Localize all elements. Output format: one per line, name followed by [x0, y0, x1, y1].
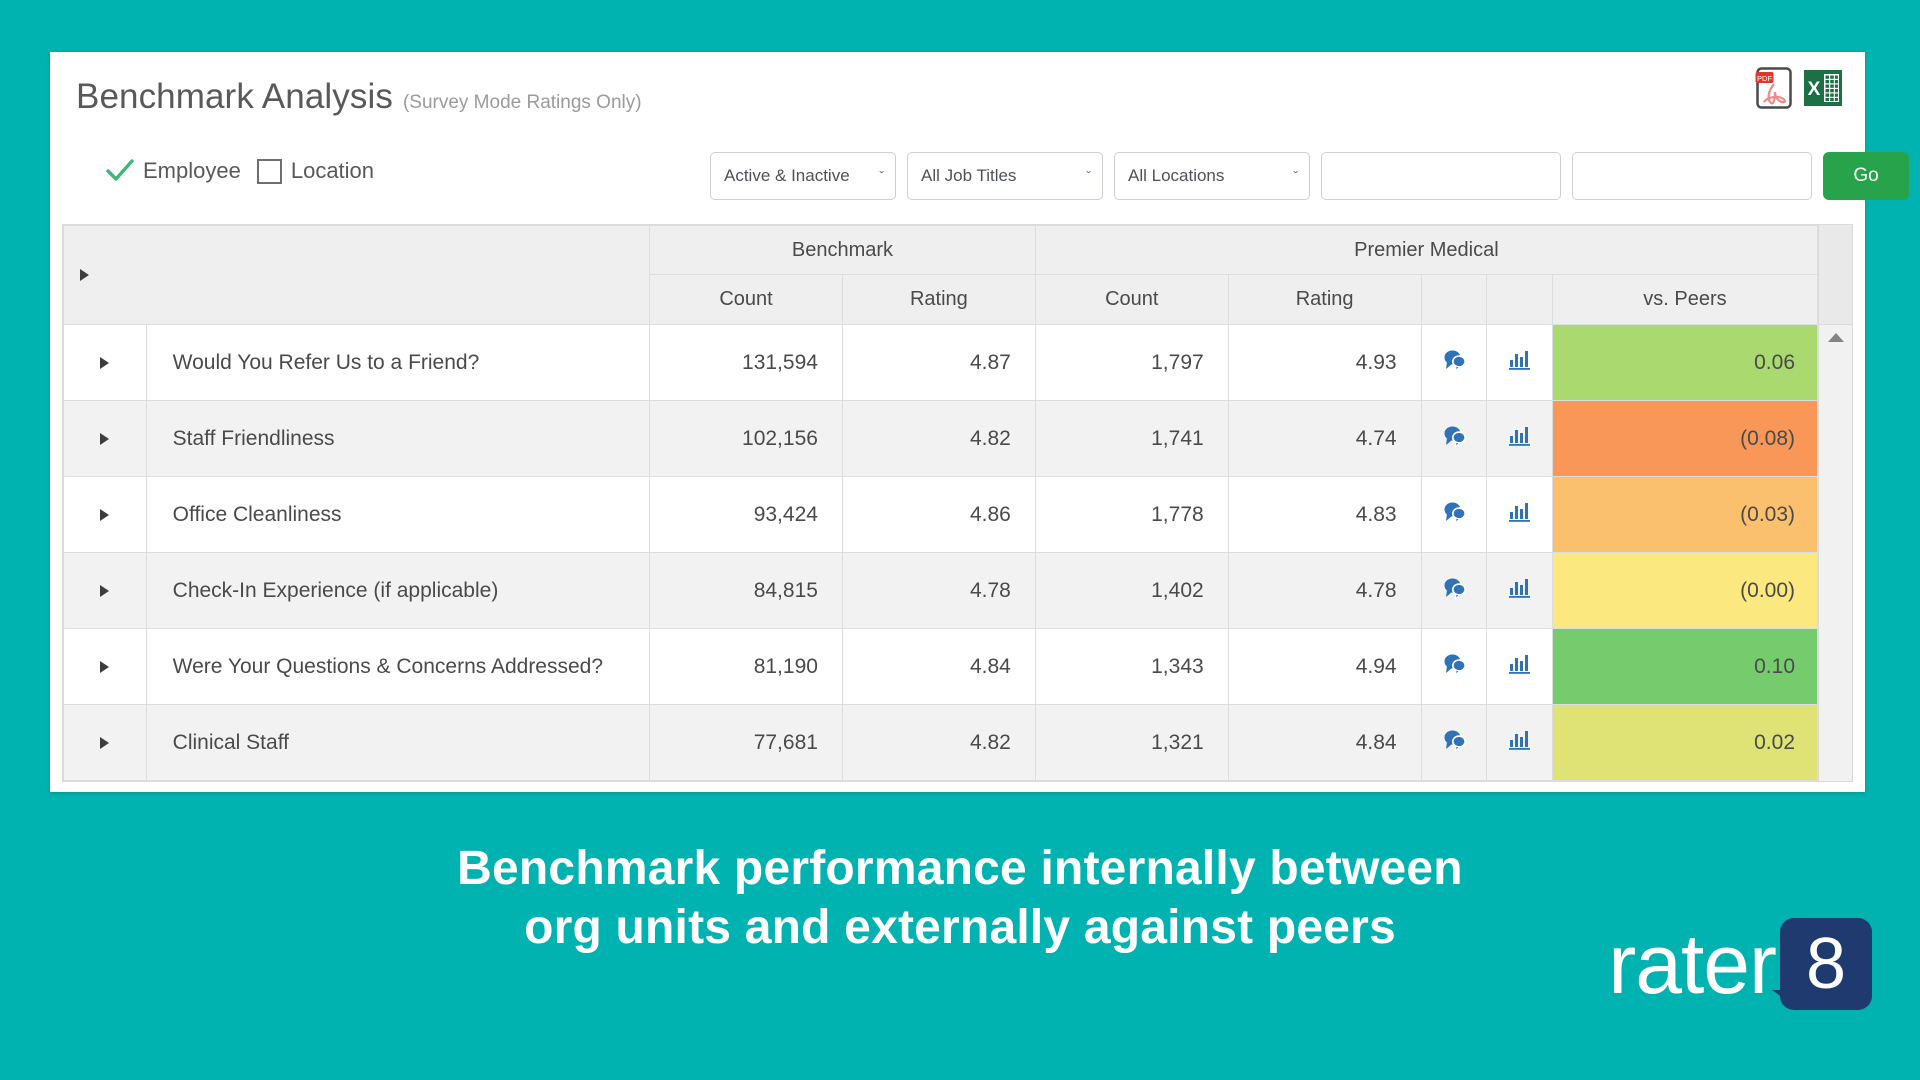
logo-badge: 8	[1780, 918, 1872, 1010]
row-vs-peers: (0.03)	[1552, 477, 1817, 553]
row-benchmark-rating: 4.87	[842, 325, 1035, 401]
row-measure-label: Clinical Staff	[146, 705, 649, 781]
comment-bubble-icon[interactable]	[1421, 477, 1487, 553]
header-org-count[interactable]: Count	[1035, 275, 1228, 325]
row-org-count: 1,797	[1035, 325, 1228, 401]
expand-triangle-icon	[100, 433, 109, 445]
excel-file-icon[interactable]: X	[1803, 68, 1843, 108]
go-button[interactable]: Go	[1823, 152, 1909, 200]
page-root: Benchmark Analysis (Survey Mode Ratings …	[0, 0, 1920, 1080]
bar-chart-icon[interactable]	[1487, 553, 1553, 629]
row-benchmark-count: 77,681	[650, 705, 843, 781]
row-org-count: 1,741	[1035, 401, 1228, 477]
logo-wordmark: rater	[1608, 922, 1776, 1006]
location-select[interactable]: All Locations ˇ	[1114, 152, 1310, 200]
bar-chart-icon[interactable]	[1487, 401, 1553, 477]
table-row[interactable]: Check-In Experience (if applicable)84,81…	[64, 553, 1818, 629]
row-benchmark-count: 131,594	[650, 325, 843, 401]
row-expand-toggle[interactable]	[64, 705, 147, 781]
row-vs-peers: (0.00)	[1552, 553, 1817, 629]
row-vs-peers: (0.08)	[1552, 401, 1817, 477]
header-chart	[1487, 275, 1553, 325]
row-org-rating: 4.94	[1228, 629, 1421, 705]
row-vs-peers: 0.02	[1552, 705, 1817, 781]
row-benchmark-count: 84,815	[650, 553, 843, 629]
row-expand-toggle[interactable]	[64, 401, 147, 477]
check-mark-icon	[106, 158, 134, 184]
row-expand-toggle[interactable]	[64, 325, 147, 401]
scroll-up-arrow-icon[interactable]	[1828, 333, 1844, 342]
comment-bubble-icon[interactable]	[1421, 553, 1487, 629]
card-header: Benchmark Analysis (Survey Mode Ratings …	[50, 52, 1865, 144]
location-checkbox[interactable]: Location	[257, 158, 374, 184]
filter-bar: Employee Location Active & Inactive ˇ Al…	[50, 144, 1865, 216]
header-vs-peers[interactable]: vs. Peers	[1552, 275, 1817, 325]
job-title-select[interactable]: All Job Titles ˇ	[907, 152, 1103, 200]
bar-chart-icon[interactable]	[1487, 325, 1553, 401]
row-vs-peers: 0.06	[1552, 325, 1817, 401]
row-benchmark-count: 93,424	[650, 477, 843, 553]
export-toolbar: PDF	[1755, 66, 1843, 110]
header-benchmark-rating[interactable]: Rating	[842, 275, 1035, 325]
expand-triangle-icon	[100, 509, 109, 521]
date-to-input[interactable]	[1573, 153, 1812, 199]
row-measure-label: Were Your Questions & Concerns Addressed…	[146, 629, 649, 705]
row-measure-label: Office Cleanliness	[146, 477, 649, 553]
row-measure-label: Staff Friendliness	[146, 401, 649, 477]
expand-triangle-icon	[80, 269, 89, 281]
row-org-rating: 4.84	[1228, 705, 1421, 781]
row-vs-peers: 0.10	[1552, 629, 1817, 705]
chevron-down-icon: ˇ	[1086, 168, 1091, 184]
table-body: Would You Refer Us to a Friend?131,5944.…	[64, 325, 1818, 781]
location-checkbox-label: Location	[291, 158, 374, 184]
scrollbar-header-spacer	[1819, 225, 1852, 325]
comment-bubble-icon[interactable]	[1421, 325, 1487, 401]
row-org-rating: 4.83	[1228, 477, 1421, 553]
row-org-count: 1,343	[1035, 629, 1228, 705]
row-measure-label: Check-In Experience (if applicable)	[146, 553, 649, 629]
bar-chart-icon[interactable]	[1487, 705, 1553, 781]
employee-checkbox[interactable]: Employee	[106, 158, 241, 184]
page-title-subtitle: (Survey Mode Ratings Only)	[403, 92, 642, 114]
table-row[interactable]: Staff Friendliness102,1564.821,7414.74(0…	[64, 401, 1818, 477]
comment-bubble-icon[interactable]	[1421, 401, 1487, 477]
logo-badge-number: 8	[1806, 928, 1846, 1000]
job-title-select-value: All Job Titles	[921, 166, 1016, 186]
table-row[interactable]: Office Cleanliness93,4244.861,7784.83(0.…	[64, 477, 1818, 553]
expand-triangle-icon	[100, 737, 109, 749]
row-benchmark-rating: 4.78	[842, 553, 1035, 629]
date-from-group	[1321, 152, 1561, 200]
row-org-rating: 4.78	[1228, 553, 1421, 629]
bar-chart-icon[interactable]	[1487, 477, 1553, 553]
row-benchmark-rating: 4.84	[842, 629, 1035, 705]
expand-triangle-icon	[100, 357, 109, 369]
rater8-logo: rater 8	[1608, 918, 1872, 1010]
table-row[interactable]: Were Your Questions & Concerns Addressed…	[64, 629, 1818, 705]
benchmark-analysis-card: Benchmark Analysis (Survey Mode Ratings …	[50, 52, 1865, 792]
row-benchmark-rating: 4.82	[842, 705, 1035, 781]
filter-controls: Active & Inactive ˇ All Job Titles ˇ All…	[710, 152, 1909, 200]
page-title: Benchmark Analysis (Survey Mode Ratings …	[76, 77, 642, 117]
status-select[interactable]: Active & Inactive ˇ	[710, 152, 896, 200]
row-org-count: 1,778	[1035, 477, 1228, 553]
row-benchmark-count: 102,156	[650, 401, 843, 477]
table-head: Benchmark Premier Medical Count Rating C…	[64, 226, 1818, 325]
date-to-group	[1572, 152, 1812, 200]
table-row[interactable]: Would You Refer Us to a Friend?131,5944.…	[64, 325, 1818, 401]
row-org-count: 1,321	[1035, 705, 1228, 781]
table-row[interactable]: Clinical Staff77,6814.821,3214.840.02	[64, 705, 1818, 781]
vertical-scrollbar[interactable]	[1818, 225, 1852, 781]
row-org-rating: 4.74	[1228, 401, 1421, 477]
comment-bubble-icon[interactable]	[1421, 705, 1487, 781]
page-title-main: Benchmark Analysis	[76, 77, 393, 117]
expand-triangle-icon	[100, 585, 109, 597]
scope-checkboxes: Employee Location	[106, 158, 374, 184]
svg-text:PDF: PDF	[1757, 74, 1772, 83]
comment-bubble-icon[interactable]	[1421, 629, 1487, 705]
header-premier-medical-group: Premier Medical	[1035, 226, 1817, 275]
expand-triangle-icon	[100, 661, 109, 673]
header-benchmark-count[interactable]: Count	[650, 275, 843, 325]
status-select-value: Active & Inactive	[724, 166, 850, 186]
benchmark-table-wrapper: Benchmark Premier Medical Count Rating C…	[62, 224, 1853, 782]
header-org-rating[interactable]: Rating	[1228, 275, 1421, 325]
header-expand-all[interactable]	[64, 226, 650, 325]
row-org-rating: 4.93	[1228, 325, 1421, 401]
row-benchmark-count: 81,190	[650, 629, 843, 705]
row-benchmark-rating: 4.82	[842, 401, 1035, 477]
row-benchmark-rating: 4.86	[842, 477, 1035, 553]
row-expand-toggle[interactable]	[64, 477, 147, 553]
row-expand-toggle[interactable]	[64, 629, 147, 705]
date-from-input[interactable]	[1322, 153, 1561, 199]
header-comments	[1421, 275, 1487, 325]
header-benchmark-group: Benchmark	[650, 226, 1036, 275]
chevron-down-icon: ˇ	[1293, 168, 1298, 184]
svg-text:X: X	[1808, 79, 1821, 100]
row-expand-toggle[interactable]	[64, 553, 147, 629]
chevron-down-icon: ˇ	[879, 168, 884, 184]
location-select-value: All Locations	[1128, 166, 1224, 186]
employee-checkbox-label: Employee	[143, 158, 241, 184]
table-group-header-row: Benchmark Premier Medical	[64, 226, 1818, 275]
location-checkbox-box	[257, 159, 282, 184]
row-org-count: 1,402	[1035, 553, 1228, 629]
caption-line-1: Benchmark performance internally between	[0, 840, 1920, 899]
row-measure-label: Would You Refer Us to a Friend?	[146, 325, 649, 401]
bar-chart-icon[interactable]	[1487, 629, 1553, 705]
benchmark-table: Benchmark Premier Medical Count Rating C…	[63, 225, 1818, 781]
pdf-file-icon[interactable]: PDF	[1755, 66, 1793, 110]
